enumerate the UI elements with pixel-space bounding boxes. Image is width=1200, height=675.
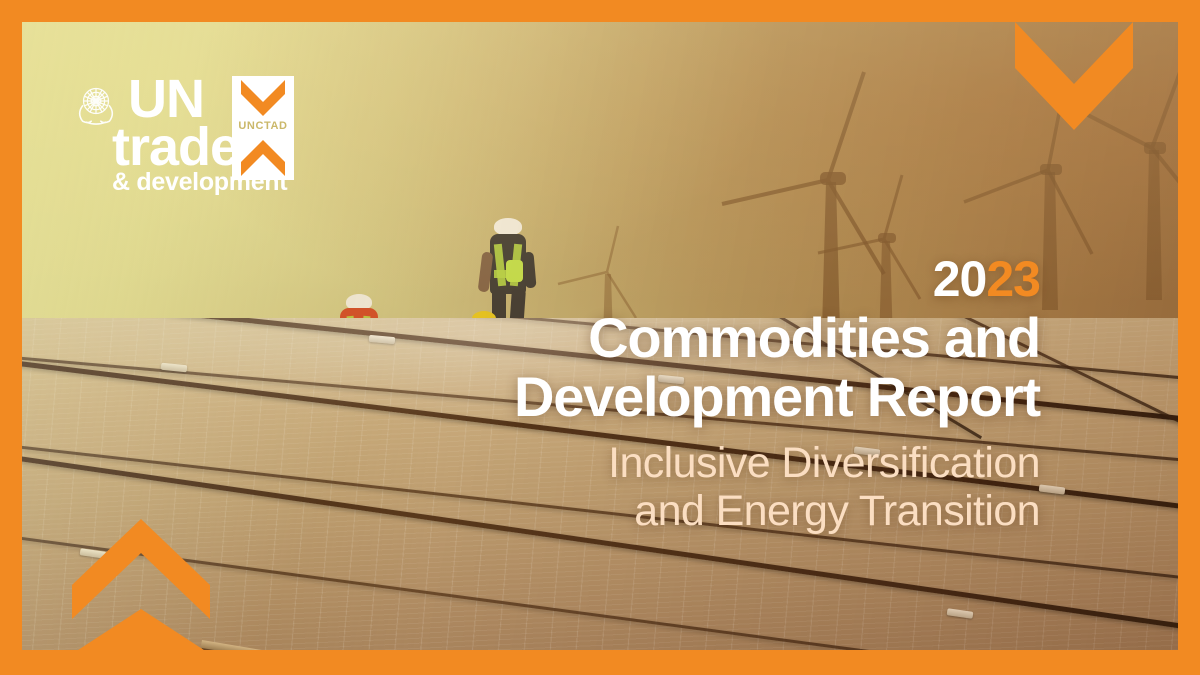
report-title: Commodities and Development Report — [400, 308, 1040, 427]
year-prefix: 20 — [933, 251, 987, 307]
chevron-up-icon — [241, 140, 285, 176]
report-cover: UN trade & development UNCTAD 2023 Commo… — [0, 0, 1200, 675]
report-subtitle: Inclusive Diversification and Energy Tra… — [400, 439, 1040, 535]
report-subtitle-line1: Inclusive Diversification — [400, 439, 1040, 487]
report-title-line2: Development Report — [400, 367, 1040, 426]
chevron-down-icon — [241, 80, 285, 116]
unctad-mark-label: UNCTAD — [232, 120, 294, 132]
decor-chevron-bottom-left — [72, 519, 210, 619]
report-year: 2023 — [400, 254, 1040, 304]
decor-chevron-top-right — [1015, 22, 1133, 162]
decor-triangle-bottom-left — [72, 609, 210, 654]
unctad-mark: UNCTAD — [232, 76, 294, 180]
logo-line-trade: trade — [112, 120, 239, 174]
year-suffix: 23 — [986, 251, 1040, 307]
report-subtitle-line2: and Energy Transition — [400, 487, 1040, 535]
unctad-logo[interactable]: UN trade & development UNCTAD — [72, 74, 302, 199]
report-title-line1: Commodities and — [400, 308, 1040, 367]
cover-title-block: 2023 Commodities and Development Report … — [400, 254, 1040, 535]
